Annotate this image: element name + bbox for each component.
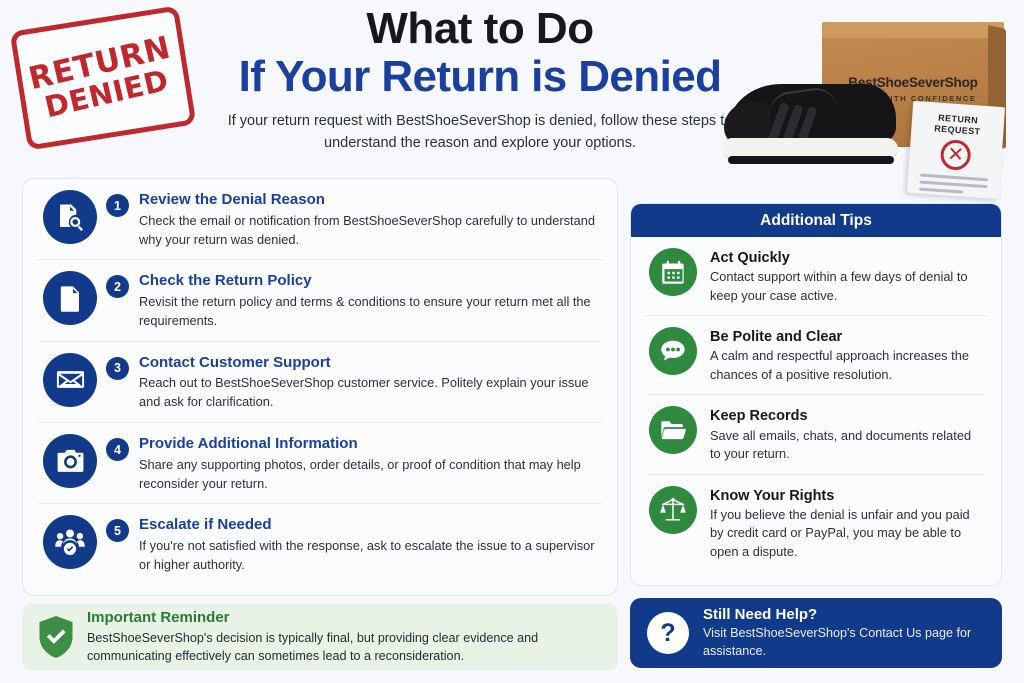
chat-bubble-icon (649, 327, 697, 375)
calendar-icon (649, 248, 697, 296)
shield-check-icon (38, 616, 74, 658)
tip-title: Know Your Rights (710, 487, 985, 505)
reminder-title: Important Reminder (87, 609, 602, 627)
reminder-description: BestShoeSeverShop's decision is typicall… (87, 629, 602, 666)
document-search-icon (43, 190, 97, 244)
help-description: Visit BestShoeSeverShop's Contact Us pag… (703, 625, 985, 661)
page-subtitle: If your return request with BestShoeSeve… (190, 110, 770, 155)
tip-item: Know Your Rights If you believe the deni… (645, 475, 987, 572)
sneaker-icon (722, 80, 902, 175)
return-request-card: RETURN REQUEST ✕ (907, 101, 1005, 199)
envelope-icon (43, 353, 97, 407)
step-description: Revisit the return policy and terms & co… (139, 293, 599, 331)
header-block: What to Do If Your Return is Denied If y… (190, 6, 770, 155)
step-item: 4 Provide Additional Information Share a… (37, 423, 603, 504)
folder-icon (649, 406, 697, 454)
additional-tips-heading: Additional Tips (631, 204, 1001, 237)
step-title: Contact Customer Support (139, 354, 599, 373)
question-mark-icon: ? (647, 612, 689, 654)
step-item: 3 Contact Customer Support Reach out to … (37, 342, 603, 423)
step-number: 1 (106, 194, 129, 217)
scales-icon (649, 486, 697, 534)
help-title: Still Need Help? (703, 606, 985, 624)
step-description: Share any supporting photos, order detai… (139, 456, 599, 494)
tip-description: Save all emails, chats, and documents re… (710, 427, 985, 464)
step-number: 3 (106, 357, 129, 380)
step-number: 4 (106, 438, 129, 461)
step-description: Check the email or notification from Bes… (139, 212, 599, 250)
tip-title: Be Polite and Clear (710, 328, 985, 346)
step-description: If you're not satisfied with the respons… (139, 537, 599, 575)
shoe-box-lid (822, 22, 1004, 38)
still-need-help-box[interactable]: ? Still Need Help? Visit BestShoeSeverSh… (630, 598, 1002, 668)
step-title: Escalate if Needed (139, 516, 599, 535)
people-check-icon (43, 515, 97, 569)
return-denied-stamp: RETURN DENIED (10, 5, 197, 150)
step-title: Review the Denial Reason (139, 191, 599, 210)
important-reminder-box: Important Reminder BestShoeSeverShop's d… (22, 604, 618, 670)
step-description: Reach out to BestShoeSeverShop customer … (139, 374, 599, 412)
tip-item: Act Quickly Contact support within a few… (645, 237, 987, 316)
tip-item: Be Polite and Clear A calm and respectfu… (645, 316, 987, 395)
tip-description: Contact support within a few days of den… (710, 268, 985, 305)
step-number: 2 (106, 275, 129, 298)
step-item: 1 Review the Denial Reason Check the ema… (37, 179, 603, 260)
steps-card: 1 Review the Denial Reason Check the ema… (22, 178, 618, 596)
additional-tips-panel: Additional Tips Act Quickly Contact supp… (630, 203, 1002, 586)
tip-description: A calm and respectful approach increases… (710, 347, 985, 384)
step-item: 5 Escalate if Needed If you're not satis… (37, 504, 603, 584)
tip-description: If you believe the denial is unfair and … (710, 506, 985, 562)
document-icon (43, 271, 97, 325)
camera-icon (43, 434, 97, 488)
tip-title: Act Quickly (710, 249, 985, 267)
tip-item: Keep Records Save all emails, chats, and… (645, 395, 987, 474)
page-title-line-1: What to Do (190, 6, 770, 53)
step-number: 5 (106, 519, 129, 542)
tip-title: Keep Records (710, 407, 985, 425)
step-item: 2 Check the Return Policy Revisit the re… (37, 260, 603, 341)
page-title-line-2: If Your Return is Denied (190, 53, 770, 101)
stamp-text: RETURN DENIED (7, 0, 200, 155)
step-title: Provide Additional Information (139, 435, 599, 454)
infographic-canvas: RETURN DENIED What to Do If Your Return … (0, 0, 1024, 683)
rejected-x-icon: ✕ (940, 139, 972, 171)
product-photo: BestShoeSeverShop WALK WITH CONFIDENCE R… (714, 0, 1024, 205)
step-title: Check the Return Policy (139, 272, 599, 291)
